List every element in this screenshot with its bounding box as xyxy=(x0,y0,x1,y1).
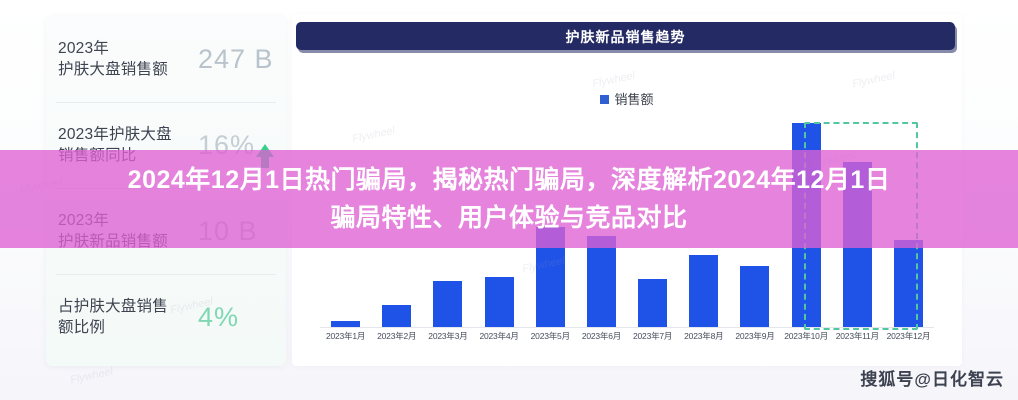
screenshot-root: 2023年 护肤大盘销售额 247 B 2023年护肤大盘 销售额同比 16% … xyxy=(0,0,1018,400)
x-axis-tick-label: 2023年3月 xyxy=(422,330,473,348)
stat-label-line2: 额比例 xyxy=(58,319,105,336)
stat-label-line1: 占护肤大盘销售 xyxy=(58,298,168,315)
x-axis-tick-label: 2023年12月 xyxy=(883,330,934,348)
x-axis-tick-label: 2023年5月 xyxy=(525,330,576,348)
x-axis-tick-label: 2023年11月 xyxy=(832,330,883,348)
x-axis-tick-labels: 2023年1月2023年2月2023年3月2023年4月2023年5月2023年… xyxy=(320,330,934,348)
bar[interactable] xyxy=(331,321,360,328)
x-axis-tick-label: 2023年4月 xyxy=(474,330,525,348)
source-watermark: 搜狐号@日化智云 xyxy=(860,365,1004,390)
bar[interactable] xyxy=(638,279,667,327)
headline-banner: 2024年12月1日热门骗局，揭秘热门骗局，深度解析2024年12月1日 骗局特… xyxy=(0,150,1018,248)
bar[interactable] xyxy=(894,240,923,327)
stat-card-value: 247 B xyxy=(198,44,286,74)
chart-legend[interactable]: 销售额 xyxy=(292,89,962,108)
headline-text: 2024年12月1日热门骗局，揭秘热门骗局，深度解析2024年12月1日 骗局特… xyxy=(19,161,999,237)
x-axis-tick-label: 2023年6月 xyxy=(576,330,627,348)
stat-label-line2: 护肤大盘销售额 xyxy=(58,61,168,78)
x-axis-tick-label: 2023年7月 xyxy=(627,330,678,348)
headline-line-1: 2024年12月1日热门骗局，揭秘热门骗局，深度解析2024年12月1日 xyxy=(128,166,891,194)
chart-title: 护肤新品销售趋势 xyxy=(296,27,955,47)
bar[interactable] xyxy=(382,305,411,327)
chart-title-bar: 护肤新品销售趋势 xyxy=(296,22,955,50)
x-axis-line xyxy=(320,327,934,328)
stat-label-line1: 2023年护肤大盘 xyxy=(58,126,172,143)
stat-card-share-ratio[interactable]: 占护肤大盘销售 额比例 4% xyxy=(46,274,286,360)
x-axis-tick-label: 2023年1月 xyxy=(320,330,371,348)
bar[interactable] xyxy=(740,266,769,327)
x-axis-tick-label: 2023年8月 xyxy=(678,330,729,348)
bar[interactable] xyxy=(433,281,462,327)
x-axis-tick-label: 2023年2月 xyxy=(371,330,422,348)
bar[interactable] xyxy=(689,255,718,327)
stat-card-total-sales[interactable]: 2023年 护肤大盘销售额 247 B xyxy=(46,16,286,102)
stat-label-line1: 2023年 xyxy=(58,40,109,57)
x-axis-tick-label: 2023年9月 xyxy=(729,330,780,348)
bar[interactable] xyxy=(587,236,616,327)
stat-card-label: 2023年 护肤大盘销售额 xyxy=(58,38,198,80)
bar[interactable] xyxy=(485,277,514,327)
watermark-tile: Flywheel xyxy=(851,70,896,91)
legend-swatch-icon xyxy=(600,95,609,104)
x-axis-tick-label: 2023年10月 xyxy=(781,330,832,348)
headline-line-2: 骗局特性、用户体验与竞品对比 xyxy=(19,199,999,237)
legend-label: 销售额 xyxy=(614,92,653,107)
watermark-tile: Flywheel xyxy=(591,70,636,91)
